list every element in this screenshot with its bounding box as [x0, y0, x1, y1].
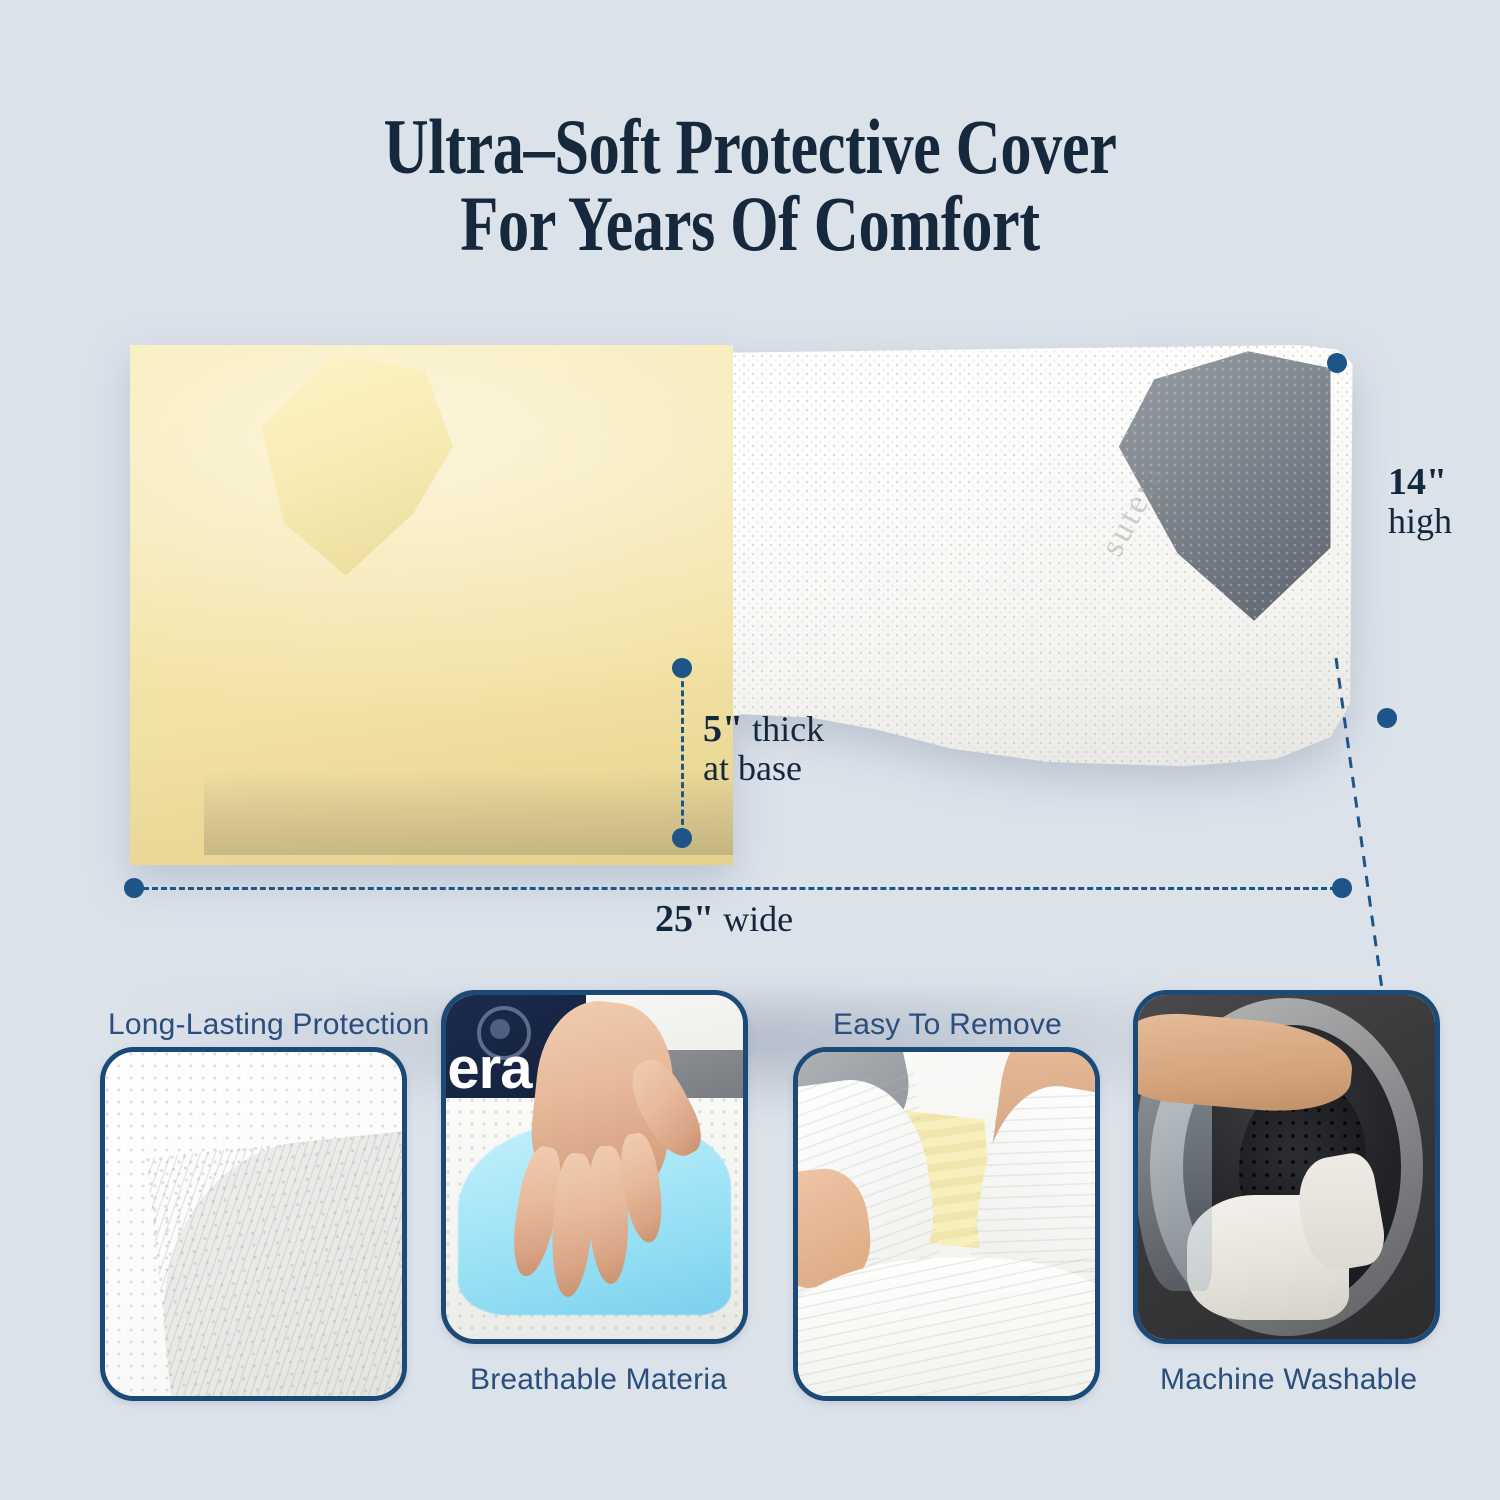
width-value: 25 — [655, 898, 693, 940]
feature-card-breathable-material[interactable]: era — [441, 990, 748, 1344]
pillow-foam-half — [130, 345, 733, 865]
page-title-line2: For Years Of Comfort — [150, 185, 1350, 262]
hero-product-scene: sutera 5" thick at base 14" high — [0, 300, 1500, 940]
feature-card-long-lasting-protection[interactable] — [100, 1047, 407, 1401]
feature-label-breathable-material: Breathable Materia — [470, 1363, 727, 1397]
foam-base-shading — [204, 771, 733, 854]
pillow-cover-half: sutera — [733, 345, 1355, 865]
feature-card-easy-to-remove[interactable] — [793, 1047, 1100, 1401]
thickness-value: 5 — [703, 708, 722, 750]
thickness-label: 5" thick at base — [703, 710, 824, 787]
page-title-line1: Ultra–Soft Protective Cover — [383, 103, 1116, 190]
fabric-diagonal-weave — [147, 1126, 407, 1401]
feature-label-easy-to-remove: Easy To Remove — [833, 1008, 1062, 1042]
height-value: 14 — [1388, 461, 1426, 503]
width-dashed-line — [143, 887, 1336, 890]
thickness-word: thick — [743, 709, 824, 749]
feature-card-row: Long-Lasting Protection era — [0, 975, 1500, 1445]
width-dot-left — [124, 878, 144, 898]
width-label: 25" wide — [655, 900, 793, 940]
width-dot-right — [1332, 878, 1352, 898]
width-word: wide — [714, 899, 793, 939]
thickness-dot-bottom — [672, 828, 692, 848]
thickness-unit: " — [722, 708, 743, 750]
height-label: 14" high — [1388, 463, 1452, 540]
height-label-line2: high — [1388, 503, 1452, 540]
fabric-lower-layer — [147, 1126, 407, 1401]
brand-wordmark: era — [447, 1035, 531, 1102]
feature-label-machine-washable: Machine Washable — [1160, 1363, 1417, 1397]
thickness-dashed-line — [681, 672, 684, 834]
cover-surface: sutera — [733, 345, 1355, 865]
infographic-root: Ultra–Soft Protective Cover For Years Of… — [0, 0, 1500, 1500]
foam-contour-flap — [250, 355, 532, 594]
height-dot-bottom — [1377, 708, 1397, 728]
width-unit: " — [693, 898, 714, 940]
feature-card-machine-washable[interactable] — [1133, 990, 1440, 1344]
feature-label-long-lasting-protection: Long-Lasting Protection — [108, 1008, 429, 1042]
height-dot-top — [1327, 353, 1347, 373]
foam-surface — [130, 345, 733, 865]
height-unit: " — [1426, 461, 1447, 503]
page-title: Ultra–Soft Protective Cover For Years Of… — [150, 108, 1350, 262]
thickness-label-line2: at base — [703, 750, 824, 787]
cover-front-fold — [793, 1258, 1100, 1401]
cover-rib-texture-front — [793, 1258, 1100, 1401]
